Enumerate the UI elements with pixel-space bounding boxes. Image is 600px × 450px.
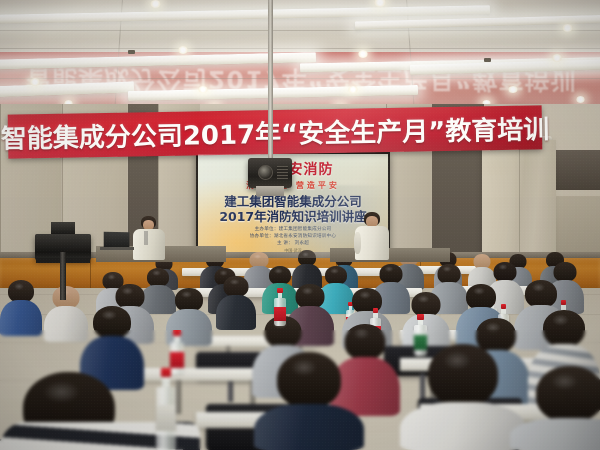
hair-highlight xyxy=(122,287,134,295)
ceiling-downlight xyxy=(150,0,161,8)
rear-doorway-dark xyxy=(556,150,600,190)
person-head xyxy=(224,276,249,297)
shading xyxy=(0,300,42,336)
presenter-shirt xyxy=(133,229,165,260)
ceiling-downlight xyxy=(30,78,40,86)
bottle-body xyxy=(274,298,286,326)
hair-highlight xyxy=(473,287,485,295)
water-bottle-foreground xyxy=(156,368,176,450)
hair-highlight xyxy=(359,291,371,299)
shading xyxy=(400,402,526,450)
bottle-cap xyxy=(161,368,171,377)
ceiling-downlight xyxy=(562,24,573,32)
person-head xyxy=(554,262,577,282)
hair-highlight xyxy=(532,283,545,291)
person-head xyxy=(543,310,585,347)
hair-highlight xyxy=(107,274,115,279)
hair-highlight xyxy=(443,266,452,272)
hair-highlight xyxy=(552,314,569,325)
hair-highlight xyxy=(385,266,394,272)
projector-bracket xyxy=(256,186,284,196)
hair-highlight xyxy=(291,359,317,376)
stage-panel-seam xyxy=(90,258,91,292)
hair-highlight xyxy=(101,310,116,320)
speaker-arm xyxy=(354,232,361,254)
hair-highlight xyxy=(330,268,339,274)
bottle-label xyxy=(170,352,184,368)
stage-person-speaker xyxy=(352,212,392,260)
chair-post xyxy=(228,378,233,402)
ceiling-downlight xyxy=(348,86,358,93)
person-torso xyxy=(0,300,42,336)
ceiling: 智能集成分公司2017年“安全生产月”教育培训 xyxy=(0,0,600,112)
bottle-label xyxy=(156,405,176,431)
stage-person-seated-presenter xyxy=(128,216,170,260)
desk-leg xyxy=(176,380,181,414)
audience-person xyxy=(0,280,42,336)
projector-lens-icon xyxy=(258,165,273,180)
hair-highlight xyxy=(43,381,80,403)
person-torso xyxy=(510,418,600,450)
hair-highlight xyxy=(152,270,161,276)
shading xyxy=(510,418,600,450)
ceiling-grid-line xyxy=(0,30,600,31)
person-head xyxy=(380,264,403,284)
audience-person xyxy=(510,366,600,450)
person-head xyxy=(277,352,341,408)
hair-highlight xyxy=(219,270,227,275)
ceiling-haze xyxy=(0,40,600,112)
hair-highlight xyxy=(354,328,370,339)
photo-scene: 智能集成分公司2017年“安全生产月”教育培训 xyxy=(0,0,600,450)
hair-highlight xyxy=(229,279,239,285)
ceiling-downlight xyxy=(358,50,368,58)
ceiling-projector xyxy=(248,158,292,188)
loudspeaker-stand xyxy=(60,252,66,300)
hair-highlight xyxy=(551,373,578,390)
person-torso xyxy=(254,404,364,450)
hair-highlight xyxy=(418,295,430,303)
person-head xyxy=(536,366,600,422)
audience-person xyxy=(216,276,256,330)
event-banner: 智能集成分公司2017年“安全生产月”教育培训 xyxy=(8,105,543,158)
person-head xyxy=(525,280,557,308)
bottle-label xyxy=(274,307,286,321)
bottle-neck xyxy=(162,377,170,387)
person-head xyxy=(93,306,131,339)
water-bottle xyxy=(274,288,286,326)
hair-highlight xyxy=(443,351,471,370)
hair-highlight xyxy=(499,264,508,270)
shading xyxy=(254,404,364,450)
bottle-body xyxy=(156,387,176,450)
hair-highlight xyxy=(302,287,314,295)
shading xyxy=(216,295,256,330)
ceiling-downlight xyxy=(576,96,585,103)
person-head xyxy=(428,344,498,406)
ceiling-grid-line xyxy=(0,48,600,49)
audience-person xyxy=(400,344,526,450)
projector-mount-rod xyxy=(268,0,273,162)
laptop-base xyxy=(100,247,134,250)
ceiling-downlight xyxy=(508,86,518,93)
audience-person xyxy=(254,352,364,450)
presenter-collar xyxy=(144,231,148,245)
ceiling-downlight xyxy=(552,54,562,62)
ceiling-downlight xyxy=(198,86,208,93)
ceiling-grid-line xyxy=(0,78,600,79)
person-torso xyxy=(400,402,526,450)
person-head xyxy=(494,262,517,282)
hair-highlight xyxy=(274,268,283,274)
ceiling-sensor xyxy=(128,50,135,54)
laptop-screen xyxy=(104,232,130,249)
ceiling-downlight xyxy=(374,0,386,7)
projector-vent xyxy=(277,166,288,179)
hair-highlight xyxy=(181,291,192,298)
hair-highlight xyxy=(485,322,501,333)
hair-highlight xyxy=(14,283,24,290)
ceiling-sensor xyxy=(484,58,491,62)
event-banner-text: 智能集成分公司2017年“安全生产月”教育培训 xyxy=(8,105,543,158)
ceiling-downlight xyxy=(178,46,188,54)
person-torso xyxy=(216,295,256,330)
person-head xyxy=(438,264,461,284)
